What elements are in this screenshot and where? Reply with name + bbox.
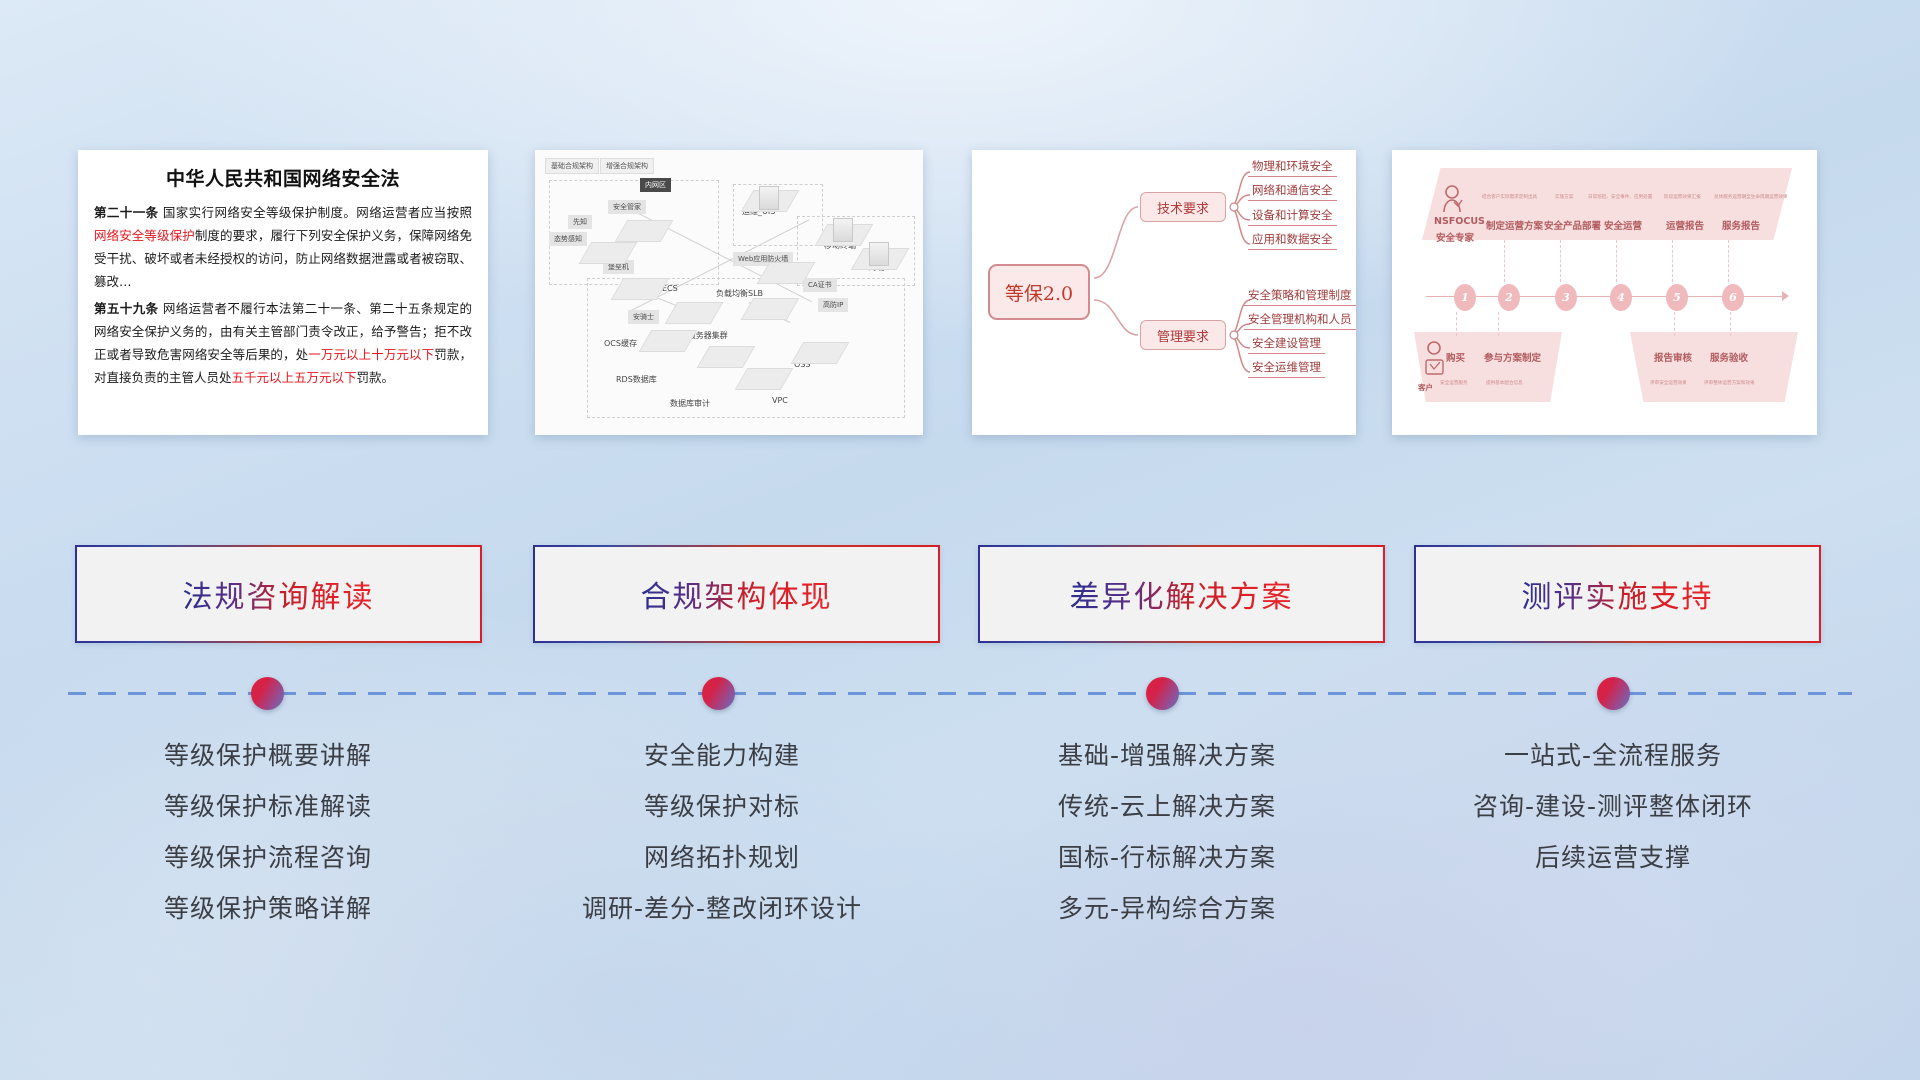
flow-dash-4 [1730,312,1731,336]
flow-top-sub-2: 实施方案 [1555,194,1573,200]
card-network-topology[interactable]: 基础合规架构 增强合规架构 内网区 安全管家 先知 态势感知 堡垒机 运维_UI… [535,150,923,435]
topology-label-ocs: OCS缓存 [599,336,642,351]
service-flow-diagram: NSFOCUS 安全专家 结合客户实际需求定制出具 制定运营方案 实施方案 安全… [1392,150,1817,435]
flow-bottom-title-4: 服务验收 [1710,350,1748,364]
mindmap-leaf-ops-mgmt: 安全运维管理 [1248,359,1325,378]
topology-label-anti-ddos: 高防IP [818,298,848,312]
flow-top-title-5: 服务报告 [1722,218,1760,232]
mindmap-leaf-physical-env: 物理和环境安全 [1248,158,1337,177]
card-service-flow[interactable]: NSFOCUS 安全专家 结合客户实际需求定制出具 制定运营方案 实施方案 安全… [1392,150,1817,435]
flow-step-number-2: 2 [1498,284,1520,311]
mindmap-leaf-app-data: 应用和数据安全 [1248,231,1337,250]
flow-top-title-4: 运营报告 [1666,218,1704,232]
law-article-59-label: 第五十九条 [94,301,158,316]
flow-bottom-sub-1: 安全运营服务 [1440,380,1468,386]
law-article-21-text-a: 国家实行网络安全等级保护制度。网络运营者应当按照 [158,205,472,220]
topology-label-situational-awareness: 态势感知 [549,232,587,246]
topology-label-xianzhi: 先知 [568,215,592,229]
flow-dash-2 [1498,312,1499,336]
timeline-dot-2[interactable] [702,677,735,710]
topology-tab-enhanced[interactable]: 增强合规架构 [600,158,654,174]
flow-step-number-6: 6 [1722,284,1744,311]
topology-label-rds: RDS数据库 [611,372,662,387]
list-item: 等级保护标准解读 [43,781,493,832]
flow-bottom-title-2: 参与方案制定 [1484,350,1541,364]
list-item: 后续运营支撑 [1388,832,1838,883]
mindmap-branch-technical[interactable]: 技术要求 [1140,192,1226,222]
mindmap-branch-management[interactable]: 管理要求 [1140,320,1226,350]
flow-dash-3 [1674,312,1675,336]
header-label-1: 法规咨询解读 [183,572,375,616]
law-article-21-label: 第二十一条 [94,205,158,220]
mindmap-diagram: 等保2.0 技术要求 物理和环境安全 网络和通信安全 设备和计算安全 应用和数据… [972,150,1356,435]
header-box-compliance-architecture[interactable]: 合规架构体现 [533,545,940,643]
topology-label-ca: CA证书 [803,278,837,292]
law-article-59-highlight-2: 五千元以上五万元以下 [232,370,357,385]
thumbnail-cards: 中华人民共和国网络安全法 第二十一条 国家实行网络安全等级保护制度。网络运营者应… [0,150,1920,440]
topology-label-intranet: 内网区 [640,178,671,192]
header-label-4: 测评实施支持 [1522,572,1714,616]
list-item: 基础-增强解决方案 [942,730,1392,781]
flow-dash-1 [1456,312,1457,336]
flow-dash-top-3 [1616,240,1617,282]
list-item: 安全能力构建 [497,730,947,781]
column-list-2: 安全能力构建 等级保护对标 网络拓扑规划 调研-差分-整改闭环设计 [497,730,947,934]
flow-dash-top-1 [1504,240,1505,282]
flow-bottom-sub-3: 评审安全运营效果 [1650,380,1687,386]
topology-diagram: 基础合规架构 增强合规架构 内网区 安全管家 先知 态势感知 堡垒机 运维_UI… [535,150,923,435]
topology-label-vpc: VPC [767,394,793,407]
topology-label-anqishi: 安骑士 [628,310,659,324]
law-text-block: 中华人民共和国网络安全法 第二十一条 国家实行网络安全等级保护制度。网络运营者应… [78,150,488,395]
flow-top-sub-4: 阶段运营效果汇报 [1664,194,1701,200]
header-label-2: 合规架构体现 [641,572,833,616]
law-article-59: 第五十九条 网络运营者不履行本法第二十一条、第二十五条规定的网络安全保护义务的，… [94,297,472,390]
law-title: 中华人民共和国网络安全法 [94,164,472,191]
topology-screen-c [869,242,889,266]
mindmap-leaf-network-comm: 网络和通信安全 [1248,182,1337,201]
list-item: 调研-差分-整改闭环设计 [497,883,947,934]
list-item: 等级保护对标 [497,781,947,832]
card-cybersecurity-law[interactable]: 中华人民共和国网络安全法 第二十一条 国家实行网络安全等级保护制度。网络运营者应… [78,150,488,435]
mindmap-root-node[interactable]: 等保2.0 [988,264,1090,320]
law-article-21-highlight: 网络安全等级保护 [94,228,195,243]
flow-top-sub-3: 日常巡检、安全事件、应用处置 [1588,194,1652,200]
flow-provider-label-line1: NSFOCUS [1434,216,1485,227]
flow-top-title-1: 制定运营方案 [1486,218,1543,232]
flow-axis-arrow-icon [1782,291,1789,301]
law-article-59-text-c: 罚款。 [357,370,395,385]
header-box-regulation-consulting[interactable]: 法规咨询解读 [75,545,482,643]
topology-screen-b [833,218,853,242]
header-box-differentiated-solution[interactable]: 差异化解决方案 [978,545,1385,643]
list-item: 网络拓扑规划 [497,832,947,883]
flow-step-number-1: 1 [1454,284,1476,311]
flow-provider-label-line2: 安全专家 [1436,230,1474,244]
header-label-3: 差异化解决方案 [1070,572,1294,616]
topology-label-db-audit: 数据库审计 [665,396,715,411]
mindmap-leaf-device-compute: 设备和计算安全 [1248,207,1337,226]
topology-tab-basic[interactable]: 基础合规架构 [545,158,599,174]
flow-bottom-title-3: 报告审核 [1654,350,1692,364]
column-list-4: 一站式-全流程服务 咨询-建设-测评整体闭环 后续运营支撑 [1388,730,1838,883]
flow-step-number-5: 5 [1666,284,1688,311]
list-item: 传统-云上解决方案 [942,781,1392,832]
flow-dash-top-4 [1672,240,1673,282]
flow-bottom-sub-4: 评审整体运营方案和效果 [1704,380,1755,386]
timeline-dashed-line [68,692,1852,695]
topology-screen-a [759,186,779,210]
flow-step-number-4: 4 [1610,284,1632,311]
mindmap-leaf-build-mgmt: 安全建设管理 [1248,335,1325,354]
card-mindmap-dengbao[interactable]: 等保2.0 技术要求 物理和环境安全 网络和通信安全 设备和计算安全 应用和数据… [972,150,1356,435]
topology-label-security-manager: 安全管家 [608,200,646,214]
header-box-evaluation-support[interactable]: 测评实施支持 [1414,545,1821,643]
list-item: 咨询-建设-测评整体闭环 [1388,781,1838,832]
column-list-1: 等级保护概要讲解 等级保护标准解读 等级保护流程咨询 等级保护策略详解 [43,730,493,934]
list-item: 多元-异构综合方案 [942,883,1392,934]
list-item: 等级保护流程咨询 [43,832,493,883]
mindmap-leaf-org-personnel: 安全管理机构和人员 [1244,311,1356,330]
mindmap-leaf-policy-system: 安全策略和管理制度 [1244,287,1356,306]
flow-top-sub-1: 结合客户实际需求定制出具 [1482,194,1537,200]
flow-top-title-2: 安全产品部署 [1544,218,1601,232]
flow-dash-top-2 [1560,240,1561,282]
flow-dash-top-5 [1728,240,1729,282]
law-article-59-highlight-1: 一万元以上十万元以下 [308,347,434,362]
list-item: 一站式-全流程服务 [1388,730,1838,781]
column-list-3: 基础-增强解决方案 传统-云上解决方案 国标-行标解决方案 多元-异构综合方案 [942,730,1392,934]
flow-top-title-3: 安全运营 [1604,218,1642,232]
list-item: 等级保护概要讲解 [43,730,493,781]
timeline-dot-1[interactable] [251,677,284,710]
flow-customer-label: 客户 [1418,382,1433,393]
timeline-dot-3[interactable] [1146,677,1179,710]
flow-top-sub-5: 总体服务运营期全生命周期运营效果 [1714,194,1788,200]
list-item: 等级保护策略详解 [43,883,493,934]
flow-bottom-title-1: 购买 [1446,350,1465,364]
flow-step-number-3: 3 [1555,284,1577,311]
timeline-dot-4[interactable] [1597,677,1630,710]
list-item: 国标-行标解决方案 [942,832,1392,883]
law-article-21: 第二十一条 国家实行网络安全等级保护制度。网络运营者应当按照网络安全等级保护制度… [94,201,472,294]
flow-bottom-sub-2: 提供基本配合信息 [1486,380,1523,386]
